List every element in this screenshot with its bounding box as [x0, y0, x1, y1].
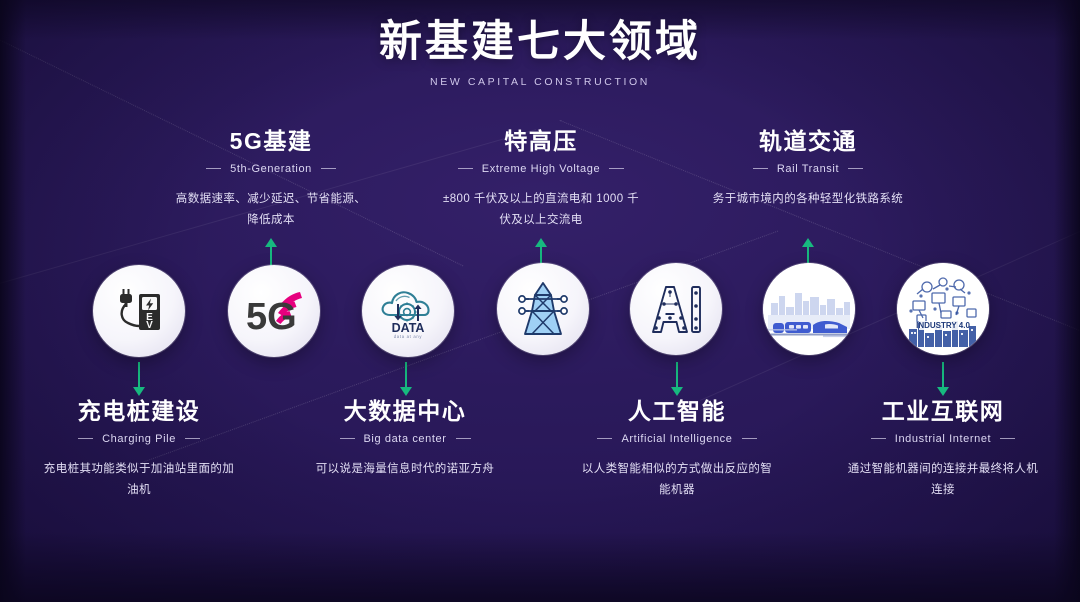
icon-circle-big-data-center[interactable]: DATA data at any — [362, 265, 454, 357]
decorative-dash-right — [185, 438, 200, 439]
connector-arrow-down-industrial-internet — [936, 362, 950, 396]
pillar-en-row: Industrial Internet — [838, 433, 1048, 445]
high-speed-train-icon — [763, 263, 855, 355]
arrow-head — [802, 238, 814, 247]
pillar-en-title: Rail Transit — [777, 163, 839, 175]
data-label: DATA — [392, 321, 425, 335]
icon-circle-charging-pile[interactable]: E V — [93, 265, 185, 357]
connector-arrow-down-artificial-intelligence — [670, 362, 684, 396]
page-subtitle: NEW CAPITAL CONSTRUCTION — [0, 76, 1080, 88]
decorative-dash-left — [340, 438, 355, 439]
arrow-head — [671, 387, 683, 396]
connector-arrow-down-big-data-center — [399, 362, 413, 396]
circle-background: 5G — [228, 265, 320, 357]
pillar-en-title: Big data center — [364, 433, 447, 445]
arrow-stem — [138, 362, 140, 387]
pillar-en-title: Artificial Intelligence — [621, 433, 732, 445]
edge-shade-left — [0, 0, 26, 602]
circle-background: INDUSTRY 4.0 — [897, 263, 989, 355]
pillar-text-industrial-internet[interactable]: 工业互联网 Industrial Internet 通过智能机器间的连接并最终将… — [838, 398, 1048, 501]
pillar-description: 以人类智能相似的方式做出反应的智能机器 — [572, 459, 782, 502]
pillar-cn-title: 人工智能 — [572, 398, 782, 426]
decorative-dash-left — [206, 168, 221, 169]
arrow-stem — [942, 362, 944, 387]
circle-background — [763, 263, 855, 355]
circle-background: E V — [93, 265, 185, 357]
icon-circle-extreme-high-voltage[interactable] — [497, 263, 589, 355]
pillar-en-title: Extreme High Voltage — [482, 163, 600, 175]
pillar-en-row: Artificial Intelligence — [572, 433, 782, 445]
decorative-dash-right — [456, 438, 471, 439]
decorative-dash-right — [1000, 438, 1015, 439]
arrow-head — [265, 238, 277, 247]
icon-circle-industrial-internet[interactable]: INDUSTRY 4.0 — [897, 263, 989, 355]
pillar-en-row: Extreme High Voltage — [436, 163, 646, 175]
circle-background — [630, 263, 722, 355]
pillar-cn-title: 5G基建 — [166, 128, 376, 156]
pillar-en-title: Charging Pile — [102, 433, 176, 445]
arrow-head — [535, 238, 547, 247]
infographic-poster: 新基建七大领域 NEW CAPITAL CONSTRUCTION 5G基建 5t… — [0, 0, 1080, 602]
pillar-description: 务于城市境内的各种轻型化铁路系统 — [703, 189, 913, 210]
pillar-description: 通过智能机器间的连接并最终将人机连接 — [838, 459, 1048, 502]
pillar-description: 可以说是海量信息时代的诺亚方舟 — [300, 459, 510, 480]
decorative-dash-right — [848, 168, 863, 169]
pillar-en-row: Big data center — [300, 433, 510, 445]
decorative-dash-left — [458, 168, 473, 169]
pillar-description: ±800 千伏及以上的直流电和 1000 千伏及以上交流电 — [436, 189, 646, 232]
icon-circle-artificial-intelligence[interactable] — [630, 263, 722, 355]
decorative-dash-right — [609, 168, 624, 169]
ai-circuit-icon — [645, 280, 707, 338]
pillar-en-row: Rail Transit — [703, 163, 913, 175]
5g-signal-icon: 5G — [242, 285, 306, 337]
data-sublabel: data at any — [394, 334, 423, 339]
decorative-dash-left — [871, 438, 886, 439]
pillar-en-title: Industrial Internet — [895, 433, 991, 445]
pillar-text-extreme-high-voltage[interactable]: 特高压 Extreme High Voltage ±800 千伏及以上的直流电和… — [436, 128, 646, 231]
svg-text:V: V — [146, 320, 153, 331]
circle-background — [497, 263, 589, 355]
pillar-text-big-data-center[interactable]: 大数据中心 Big data center 可以说是海量信息时代的诺亚方舟 — [300, 398, 510, 480]
pillar-text-charging-pile[interactable]: 充电桩建设 Charging Pile 充电桩其功能类似于加油站里面的加油机 — [34, 398, 244, 501]
connector-arrow-down-charging-pile — [132, 362, 146, 396]
industry-label: INDUSTRY 4.0 — [916, 321, 970, 330]
pillar-cn-title: 特高压 — [436, 128, 646, 156]
icon-circle-5g[interactable]: 5G — [228, 265, 320, 357]
decorative-dash-right — [321, 168, 336, 169]
pillar-cn-title: 工业互联网 — [838, 398, 1048, 426]
pillar-cn-title: 大数据中心 — [300, 398, 510, 426]
arrow-head — [400, 387, 412, 396]
pillar-en-title: 5th-Generation — [230, 163, 312, 175]
edge-shade-bottom — [0, 532, 1080, 602]
five-g-label: 5G — [246, 296, 297, 337]
pillar-text-artificial-intelligence[interactable]: 人工智能 Artificial Intelligence 以人类智能相似的方式做… — [572, 398, 782, 501]
arrow-stem — [676, 362, 678, 387]
decorative-dash-left — [597, 438, 612, 439]
arrow-head — [133, 387, 145, 396]
industry-40-icon: INDUSTRY 4.0 — [897, 263, 989, 355]
edge-shade-right — [1054, 0, 1080, 602]
arrow-stem — [405, 362, 407, 387]
cloud-data-icon: DATA data at any — [375, 282, 441, 340]
pillar-text-5g[interactable]: 5G基建 5th-Generation 高数据速率、减少延迟、节省能源、降低成本 — [166, 128, 376, 231]
power-pylon-icon — [511, 278, 575, 340]
pillar-cn-title: 充电桩建设 — [34, 398, 244, 426]
pillar-description: 充电桩其功能类似于加油站里面的加油机 — [34, 459, 244, 502]
pillar-en-row: 5th-Generation — [166, 163, 376, 175]
circle-background: DATA data at any — [362, 265, 454, 357]
pillar-en-row: Charging Pile — [34, 433, 244, 445]
decorative-dash-left — [753, 168, 768, 169]
decorative-dash-right — [742, 438, 757, 439]
pillar-cn-title: 轨道交通 — [703, 128, 913, 156]
arrow-head — [937, 387, 949, 396]
decorative-dash-left — [78, 438, 93, 439]
poster-header: 新基建七大领域 NEW CAPITAL CONSTRUCTION — [0, 18, 1080, 88]
ev-charging-station-icon: E V — [110, 282, 168, 340]
icon-circle-rail-transit[interactable] — [763, 263, 855, 355]
pillar-text-rail-transit[interactable]: 轨道交通 Rail Transit 务于城市境内的各种轻型化铁路系统 — [703, 128, 913, 210]
page-title: 新基建七大领域 — [0, 18, 1080, 66]
pillar-description: 高数据速率、减少延迟、节省能源、降低成本 — [166, 189, 376, 232]
